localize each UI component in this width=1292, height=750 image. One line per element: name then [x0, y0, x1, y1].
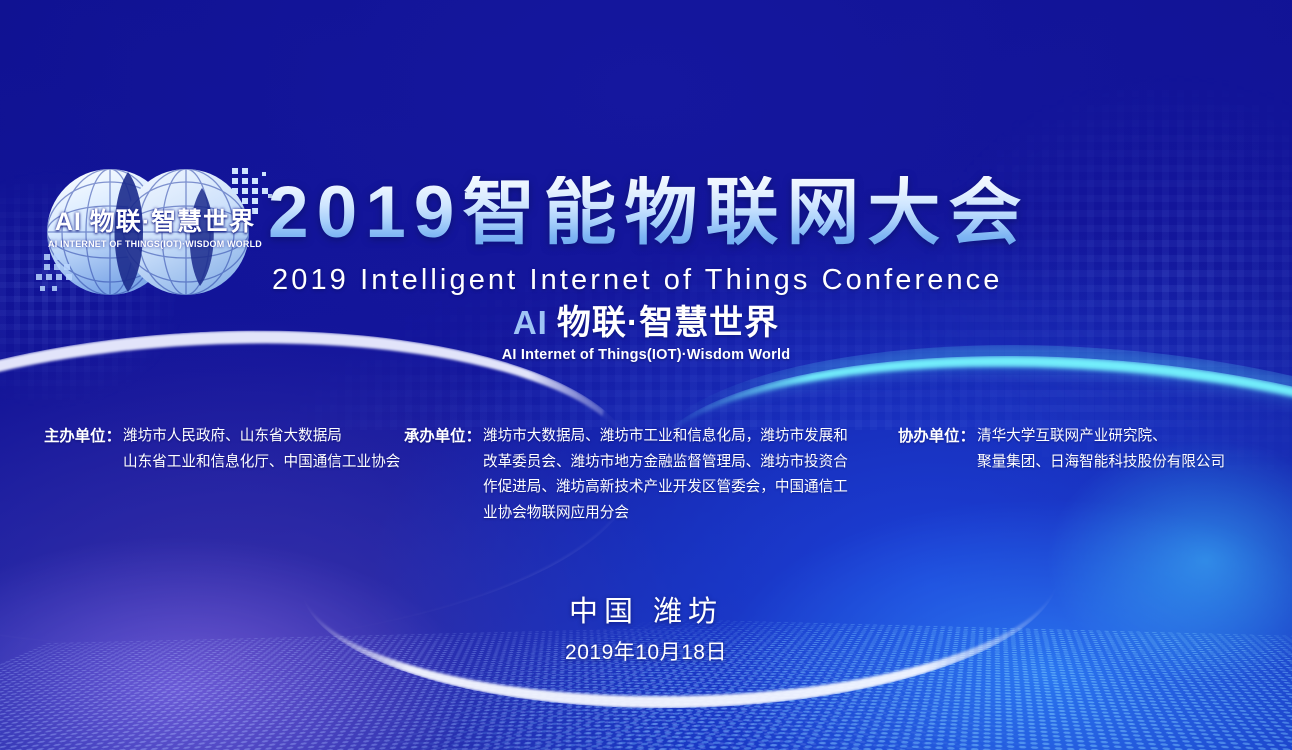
emblem-chinese-text: AI 物联·智慧世界	[42, 210, 268, 235]
organizer-body: 清华大学互联网产业研究院、 聚量集团、日海智能科技股份有限公司	[977, 424, 1268, 475]
ai-iot-globe-emblem: AI 物联·智慧世界 AI INTERNET OF THINGS(IOT)·WI…	[36, 158, 274, 306]
slogan-ai-text: AI	[513, 306, 548, 339]
organizer-body: 潍坊市人民政府、山东省大数据局 山东省工业和信息化厅、中国通信工业协会	[123, 424, 404, 475]
organizer-label: 协办单位：	[898, 424, 977, 450]
organizer-line: 改革委员会、潍坊市地方金融监督管理局、潍坊市投资合	[483, 454, 848, 470]
venue-location: 中国 潍坊	[0, 588, 1292, 630]
organizer-column-undertaker: 承办单位： 潍坊市大数据局、潍坊市工业和信息化局，潍坊市发展和 改革委员会、潍坊…	[404, 424, 874, 526]
organizer-line: 潍坊市人民政府、山东省大数据局	[123, 428, 342, 444]
venue-block: 中国 潍坊 2019年10月18日	[0, 588, 1292, 666]
organizer-line: 潍坊市大数据局、潍坊市工业和信息化局，潍坊市发展和	[483, 428, 848, 444]
organizer-line: 业协会物联网应用分会	[483, 505, 629, 521]
organizer-line: 山东省工业和信息化厅、中国通信工业协会	[123, 454, 400, 470]
slogan-english-text: AI Internet of Things(IOT)·Wisdom World	[0, 347, 1292, 363]
slogan-chinese-text: 物联·智慧世界	[557, 306, 779, 340]
organizer-line: 作促进局、潍坊高新技术产业开发区管委会，中国通信工	[483, 479, 848, 495]
organizer-line: 清华大学互联网产业研究院、	[977, 428, 1167, 444]
organizer-body: 潍坊市大数据局、潍坊市工业和信息化局，潍坊市发展和 改革委员会、潍坊市地方金融监…	[483, 424, 874, 526]
organizer-column-host: 主办单位： 潍坊市人民政府、山东省大数据局 山东省工业和信息化厅、中国通信工业协…	[44, 424, 404, 475]
organizer-line: 聚量集团、日海智能科技股份有限公司	[977, 454, 1225, 470]
page-subtitle: 2019 Intelligent Internet of Things Conf…	[272, 264, 1003, 297]
slogan-lockup: AI 物联·智慧世界 AI Internet of Things(IOT)·Wi…	[0, 306, 1292, 363]
venue-date: 2019年10月18日	[0, 636, 1292, 666]
organizer-label: 主办单位：	[44, 424, 123, 450]
organizer-label: 承办单位：	[404, 424, 483, 450]
emblem-english-text: AI INTERNET OF THINGS(IOT)·WISDOM WORLD	[45, 240, 264, 249]
page-title: 2019智能物联网大会	[268, 176, 1029, 249]
conference-banner: AI 物联·智慧世界 AI INTERNET OF THINGS(IOT)·WI…	[0, 0, 1292, 750]
organizer-column-coorganizer: 协办单位： 清华大学互联网产业研究院、 聚量集团、日海智能科技股份有限公司	[898, 424, 1268, 475]
organizer-section: 主办单位： 潍坊市人民政府、山东省大数据局 山东省工业和信息化厅、中国通信工业协…	[0, 424, 1292, 544]
